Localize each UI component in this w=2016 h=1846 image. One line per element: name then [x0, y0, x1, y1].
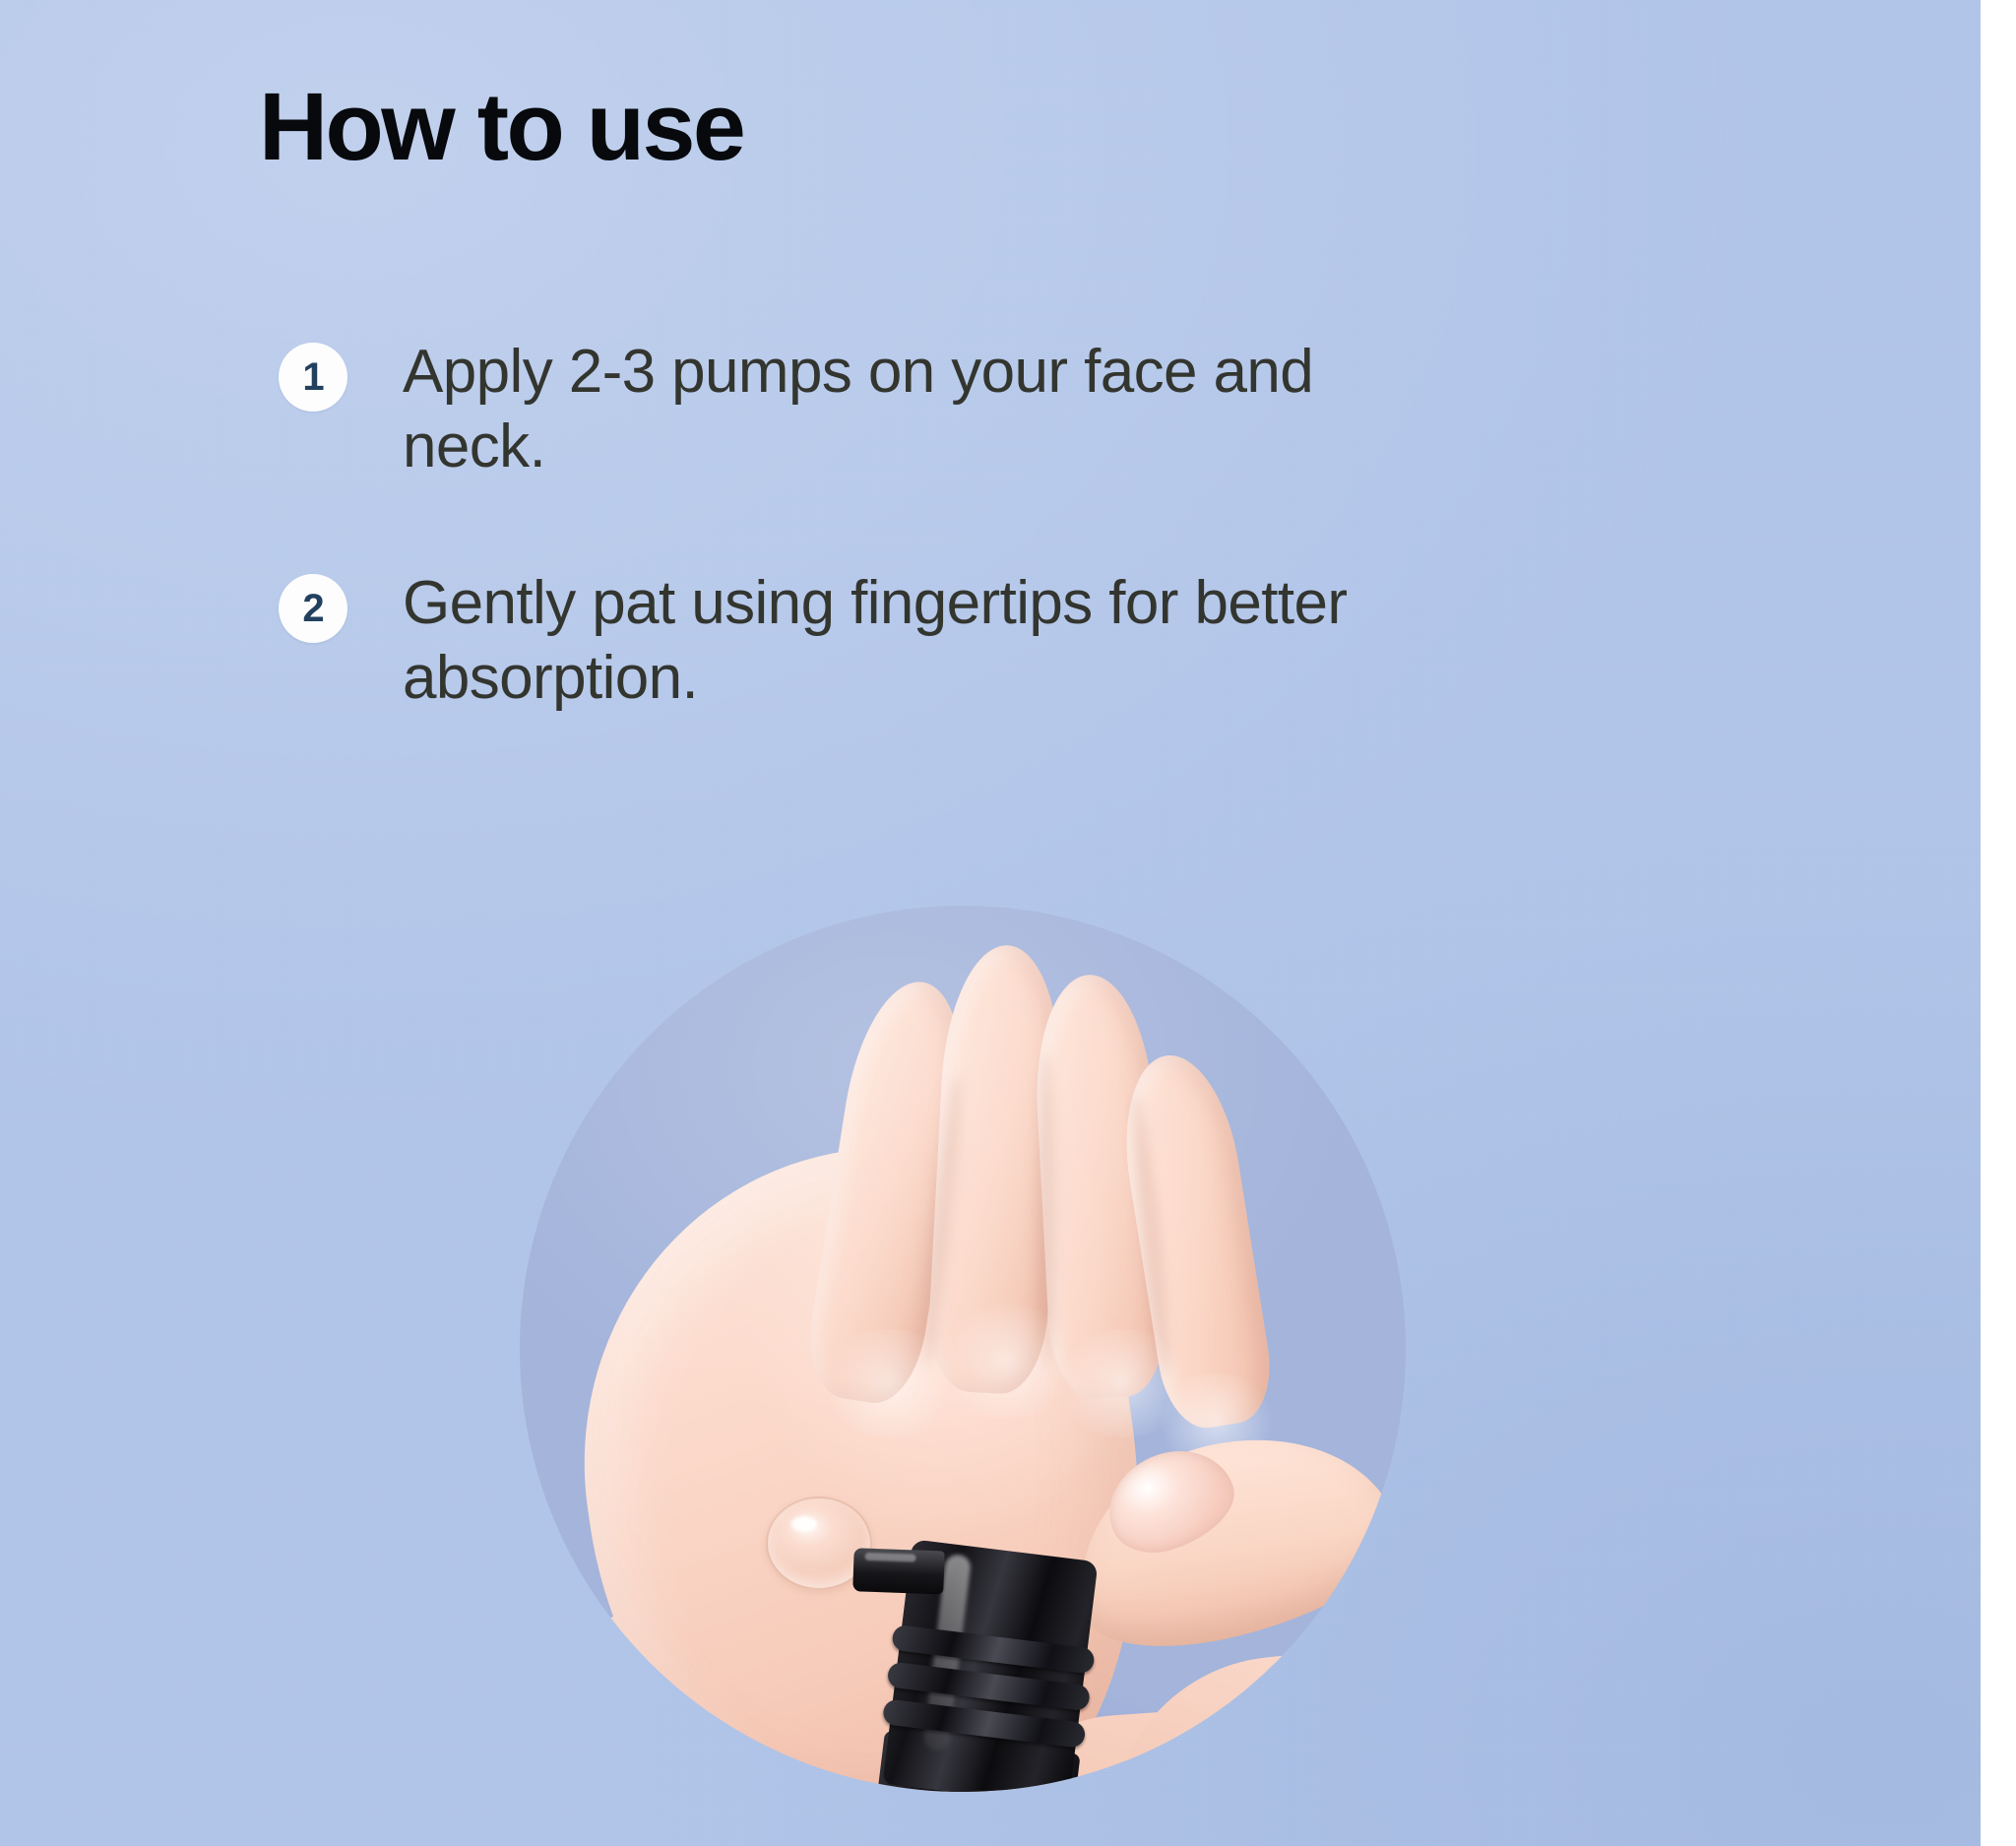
cap-gloss-highlight	[922, 1554, 972, 1752]
step-number-badge: 2	[279, 574, 347, 643]
finger	[1111, 1048, 1279, 1434]
finger-gap-shadow	[1127, 1093, 1174, 1378]
bottle-collar	[876, 1730, 1081, 1792]
photo-circle-backdrop	[520, 906, 1406, 1792]
pump-nozzle	[852, 1548, 944, 1594]
finger	[800, 974, 979, 1410]
bottle-pump-cap	[883, 1539, 1099, 1792]
droplet-highlight	[791, 1516, 817, 1532]
list-item: 1 Apply 2-3 pumps on your face and neck.	[279, 335, 1460, 483]
step-number-label: 1	[302, 357, 323, 397]
finger	[925, 942, 1067, 1396]
cap-ring	[891, 1624, 1096, 1675]
nozzle-highlight	[864, 1553, 915, 1562]
serum-droplet	[766, 1496, 872, 1590]
cap-ring	[882, 1698, 1087, 1749]
knuckle-highlight	[933, 1305, 1081, 1418]
list-item: 2 Gently pat using fingertips for better…	[279, 566, 1460, 715]
step-number-label: 2	[302, 589, 323, 628]
step-number-badge: 1	[279, 343, 347, 412]
step-description: Apply 2-3 pumps on your face and neck.	[403, 335, 1397, 483]
page-title: How to use	[259, 77, 743, 177]
knuckle-highlight	[815, 1329, 963, 1437]
finger-gap-shadow	[1038, 1053, 1055, 1369]
step-description: Gently pat using fingertips for better a…	[403, 566, 1397, 715]
pump-bottle	[806, 1532, 1180, 1792]
knuckle-highlight	[1051, 1329, 1194, 1437]
knuckle-highlight	[1150, 1373, 1283, 1472]
product-photo	[520, 906, 1406, 1792]
finger-gap-shadow	[917, 1073, 966, 1369]
thumb	[1052, 1406, 1406, 1671]
thumb-nail	[1095, 1435, 1245, 1564]
steps-list: 1 Apply 2-3 pumps on your face and neck.…	[279, 335, 1460, 798]
screenshot-stage: How to use 1 Apply 2-3 pumps on your fac…	[0, 0, 2016, 1846]
how-to-use-card: How to use 1 Apply 2-3 pumps on your fac…	[0, 0, 1981, 1846]
finger	[1031, 972, 1168, 1401]
cap-ring	[887, 1661, 1092, 1711]
